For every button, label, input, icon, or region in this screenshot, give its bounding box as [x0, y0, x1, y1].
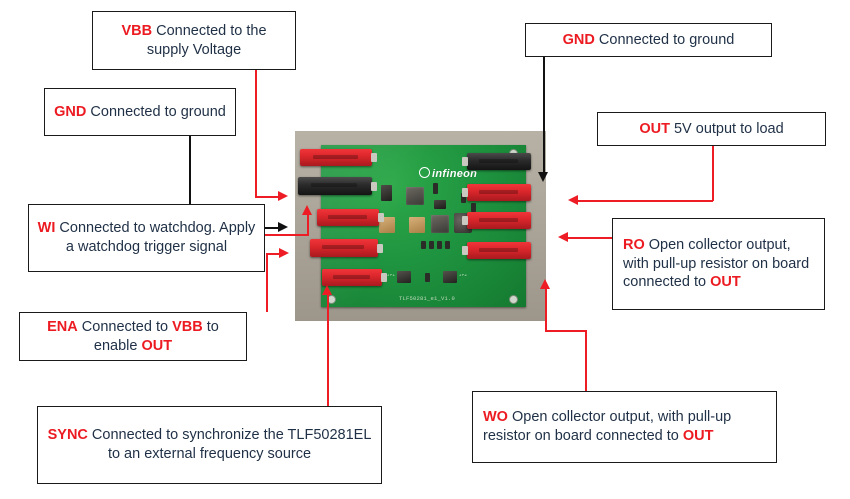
- component-ic-main: [406, 187, 424, 205]
- callout-wi-text: Connected to watchdog. Apply a watchdog …: [55, 220, 255, 255]
- jack-gnd-left[interactable]: [298, 177, 372, 195]
- pcb-photo: infineon JP1 JP2 TLF50281_e1_V1.0: [295, 131, 546, 321]
- line-vbb-horizontal: [255, 196, 279, 198]
- jack-slot: [333, 275, 370, 279]
- component-resistor: [445, 241, 450, 249]
- line-wo-vertical-upper: [545, 287, 547, 331]
- arrow-sync: [322, 285, 332, 295]
- callout-wi[interactable]: WI Connected to watchdog. Apply a watchd…: [28, 204, 265, 272]
- component-jumper-jp1: [397, 271, 411, 283]
- callout-sync-text: Connected to synchronize the TLF50281EL …: [88, 427, 371, 462]
- silkscreen-part-number: TLF50281_e1_V1.0: [399, 295, 455, 302]
- jack-tip: [377, 244, 383, 253]
- diagram-canvas: infineon JP1 JP2 TLF50281_e1_V1.0: [0, 0, 850, 499]
- mounting-hole: [509, 149, 518, 158]
- jack-tip: [378, 213, 384, 222]
- arrow-vbb: [278, 191, 288, 201]
- callout-wo-signal: WO: [483, 409, 508, 425]
- component-resistor: [473, 217, 478, 226]
- arrow-out: [568, 195, 578, 205]
- line-vbb-vertical: [255, 70, 257, 197]
- callout-gnd-right-signal: GND: [563, 32, 595, 48]
- arrow-ena: [279, 248, 289, 258]
- callout-gnd-left[interactable]: GND Connected to ground: [44, 88, 236, 136]
- jack-slot: [479, 190, 519, 194]
- callout-gnd-right-text: Connected to ground: [595, 32, 734, 48]
- line-gnd-right-vertical: [543, 57, 545, 173]
- line-out-horizontal: [578, 200, 713, 202]
- jack-wo[interactable]: [467, 242, 531, 259]
- jack-ro[interactable]: [467, 212, 531, 229]
- line-ena-horizontal: [266, 253, 280, 255]
- jack-tip: [462, 188, 468, 197]
- arrow-wi: [302, 205, 312, 215]
- callout-gnd-left-text: Connected to ground: [86, 104, 225, 120]
- callout-ena-signal: ENA: [47, 319, 78, 335]
- callout-wo[interactable]: WO Open collector output, with pull-up r…: [472, 391, 777, 463]
- jack-out[interactable]: [467, 184, 531, 201]
- line-wi-vertical: [307, 214, 309, 235]
- line-wo-horizontal: [545, 330, 587, 332]
- jack-slot: [479, 218, 519, 222]
- callout-ro[interactable]: RO Open collector output, with pull-up r…: [612, 218, 825, 310]
- infineon-logo-ring: [419, 167, 430, 178]
- callout-ena-signal-b: VBB: [172, 319, 203, 335]
- jack-slot: [311, 183, 357, 187]
- silkscreen-jp1: JP1: [387, 274, 395, 278]
- callout-vbb-signal: VBB: [121, 23, 152, 39]
- jack-tip: [462, 157, 468, 166]
- infineon-logo-text: infineon: [432, 168, 477, 180]
- jack-vbb[interactable]: [300, 149, 372, 166]
- component-resistor: [471, 203, 476, 212]
- component-diode: [381, 185, 392, 201]
- component-resistor: [461, 193, 466, 203]
- callout-vbb[interactable]: VBB Connected to the supply Voltage: [92, 11, 296, 70]
- callout-vbb-text: Connected to the supply Voltage: [147, 23, 267, 58]
- line-sync-vertical: [327, 293, 329, 406]
- jack-gnd-right[interactable]: [467, 153, 531, 170]
- jack-tip: [381, 273, 387, 282]
- callout-wi-signal: WI: [38, 220, 56, 236]
- callout-ro-signal: RO: [623, 237, 645, 253]
- callout-out-signal: OUT: [639, 121, 670, 137]
- jack-tip: [462, 216, 468, 225]
- callout-sync-signal: SYNC: [48, 427, 88, 443]
- infineon-logo: infineon: [419, 167, 477, 180]
- component-capacitor: [409, 217, 425, 233]
- callout-wo-signal-b: OUT: [683, 428, 714, 444]
- jack-slot: [479, 248, 519, 252]
- jack-tip: [462, 246, 468, 255]
- jack-slot: [479, 159, 519, 163]
- jack-tip: [371, 153, 377, 162]
- arrow-wo: [540, 279, 550, 289]
- arrow-gnd-right: [538, 172, 548, 182]
- silkscreen-jp2: JP2: [459, 274, 467, 278]
- jack-slot: [313, 155, 358, 159]
- line-ro-horizontal: [568, 237, 612, 239]
- component-inductor: [454, 213, 472, 233]
- callout-ro-signal-b: OUT: [710, 274, 741, 290]
- callout-ena-signal-c: OUT: [141, 338, 172, 354]
- callout-out-text: 5V output to load: [670, 121, 784, 137]
- line-out-vertical: [712, 146, 714, 201]
- jack-tip: [371, 182, 377, 191]
- line-wi-horizontal: [265, 234, 309, 236]
- component-resistor: [437, 241, 442, 249]
- callout-out[interactable]: OUT 5V output to load: [597, 112, 826, 146]
- arrow-ro: [558, 232, 568, 242]
- mounting-hole: [509, 295, 518, 304]
- line-ena-vertical: [266, 253, 268, 312]
- component-resistor: [433, 183, 438, 194]
- component-jumper-jp2: [443, 271, 457, 283]
- jack-wi[interactable]: [317, 209, 379, 226]
- callout-ena[interactable]: ENA Connected to VBB to enable OUT: [19, 312, 247, 361]
- callout-ena-text-a: Connected to: [78, 319, 172, 335]
- component-resistor: [429, 241, 434, 249]
- jack-slot: [328, 215, 366, 219]
- line-wo-vertical-lower: [585, 330, 587, 393]
- callout-sync[interactable]: SYNC Connected to synchronize the TLF502…: [37, 406, 382, 484]
- component-ic-regulator: [431, 215, 449, 233]
- component-resistor: [421, 241, 426, 249]
- component-resistor: [425, 273, 430, 282]
- jack-sync[interactable]: [322, 269, 382, 286]
- callout-gnd-right[interactable]: GND Connected to ground: [525, 23, 772, 57]
- arrow-gnd-left: [278, 222, 288, 232]
- component-capacitor: [434, 200, 446, 209]
- callout-gnd-left-signal: GND: [54, 104, 86, 120]
- jack-slot: [322, 245, 364, 249]
- jack-ena[interactable]: [310, 239, 378, 257]
